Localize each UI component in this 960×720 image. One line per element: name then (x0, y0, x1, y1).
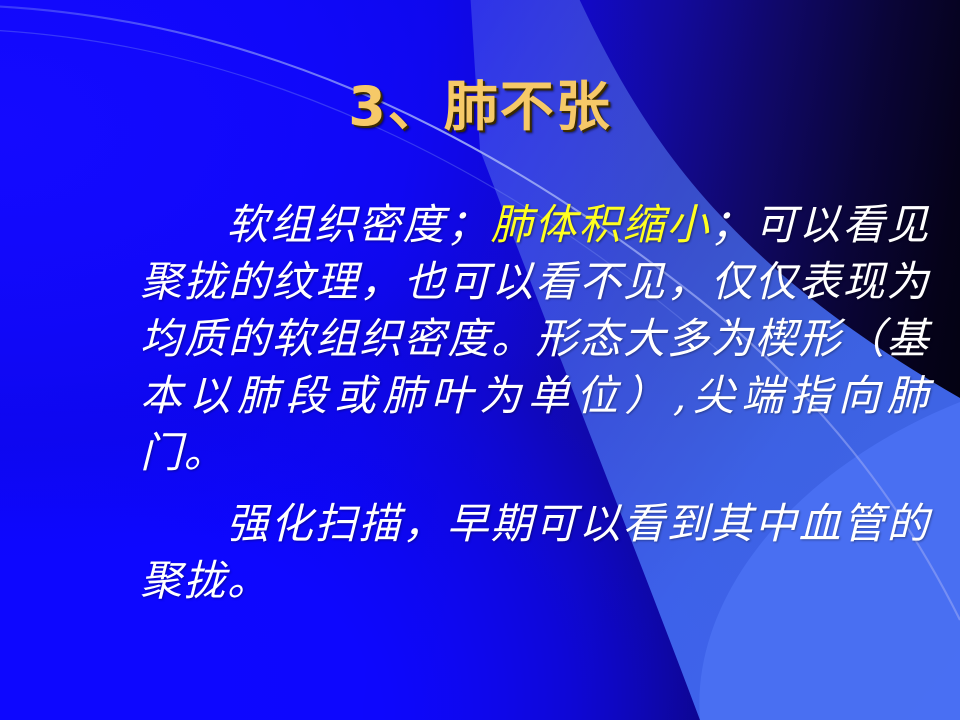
slide-body: 软组织密度；肺体积缩小；可以看见聚拢的纹理，也可以看不见，仅仅表现为均质的软组织… (140, 196, 930, 609)
highlighted-text-run: 肺体积缩小 (490, 200, 710, 249)
presentation-slide: 3、肺不张 软组织密度；肺体积缩小；可以看见聚拢的纹理，也可以看不见，仅仅表现为… (0, 0, 960, 720)
slide-title: 3、肺不张 (0, 62, 960, 141)
body-paragraph: 强化扫描，早期可以看到其中血管的聚拢。 (140, 495, 930, 609)
text-run: 强化扫描，早期可以看到其中血管的聚拢。 (140, 499, 930, 605)
text-run: 软组织密度； (226, 200, 490, 249)
body-paragraph: 软组织密度；肺体积缩小；可以看见聚拢的纹理，也可以看不见，仅仅表现为均质的软组织… (140, 196, 930, 481)
